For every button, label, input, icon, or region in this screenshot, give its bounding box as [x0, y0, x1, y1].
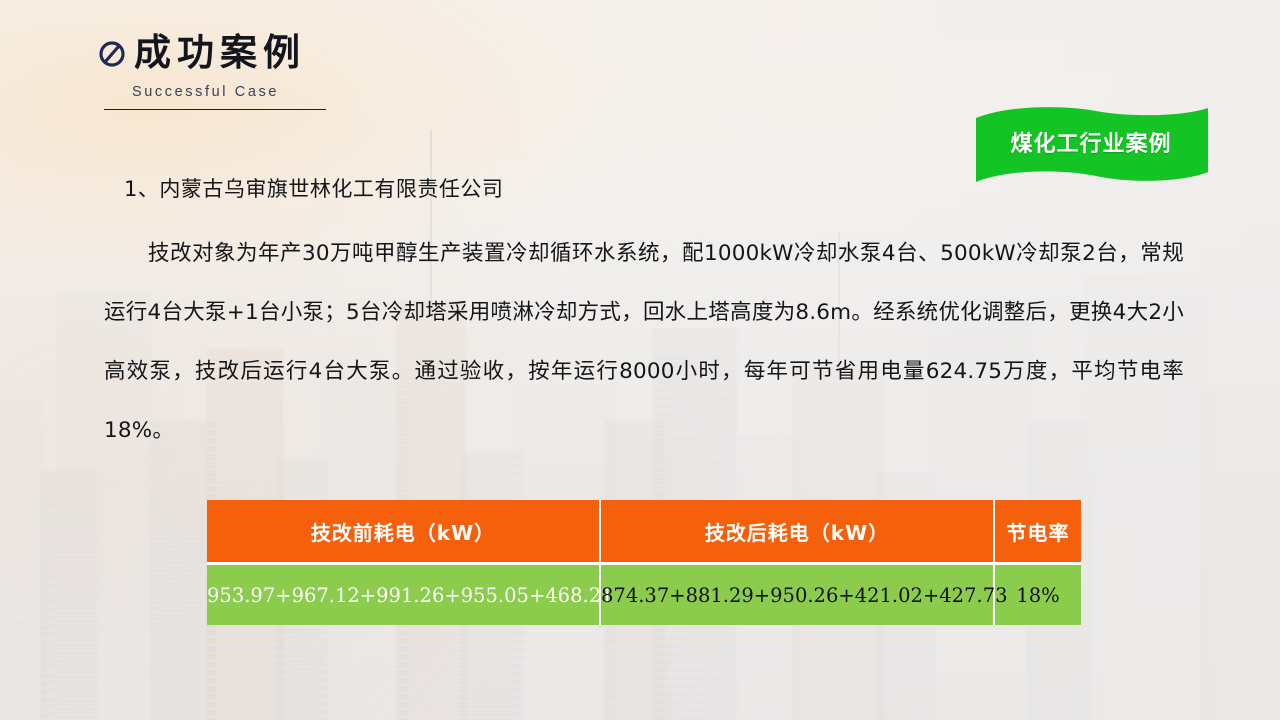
case-paragraph: 技改对象为年产30万吨甲醇生产装置冷却循环水系统，配1000kW冷却水泵4台、5…: [104, 224, 1184, 460]
table-header-saving-rate: 节电率: [995, 500, 1081, 565]
energy-comparison-table: 技改前耗电（kW） 技改后耗电（kW） 节电率 953.97+967.12+99…: [207, 500, 1081, 625]
table-header-after: 技改后耗电（kW）: [601, 500, 995, 565]
table-header-before: 技改前耗电（kW）: [207, 500, 601, 565]
case-heading: 1、内蒙古乌审旗世林化工有限责任公司: [124, 176, 1184, 202]
slide-canvas: 成功案例 Successful Case 煤化工行业案例 1、内蒙古乌审旗世林化…: [0, 0, 1280, 720]
category-badge-label: 煤化工行业案例: [968, 126, 1214, 158]
cell-before-values: 953.97+967.12+991.26+955.05+468.21: [207, 565, 601, 625]
cell-after-values: 874.37+881.29+950.26+421.02+427.73: [601, 565, 995, 625]
title-divider: [104, 109, 326, 110]
slashed-circle-icon: [96, 38, 128, 70]
table-row: 953.97+967.12+991.26+955.05+468.21 874.3…: [207, 565, 1081, 625]
slide-header: 成功案例 Successful Case: [96, 34, 516, 110]
page-title: 成功案例: [134, 34, 306, 73]
case-body: 1、内蒙古乌审旗世林化工有限责任公司 技改对象为年产30万吨甲醇生产装置冷却循环…: [104, 176, 1184, 460]
title-row: 成功案例: [96, 34, 516, 73]
table-header-row: 技改前耗电（kW） 技改后耗电（kW） 节电率: [207, 500, 1081, 565]
page-subtitle: Successful Case: [132, 84, 516, 100]
cell-saving-rate: 18%: [995, 565, 1081, 625]
